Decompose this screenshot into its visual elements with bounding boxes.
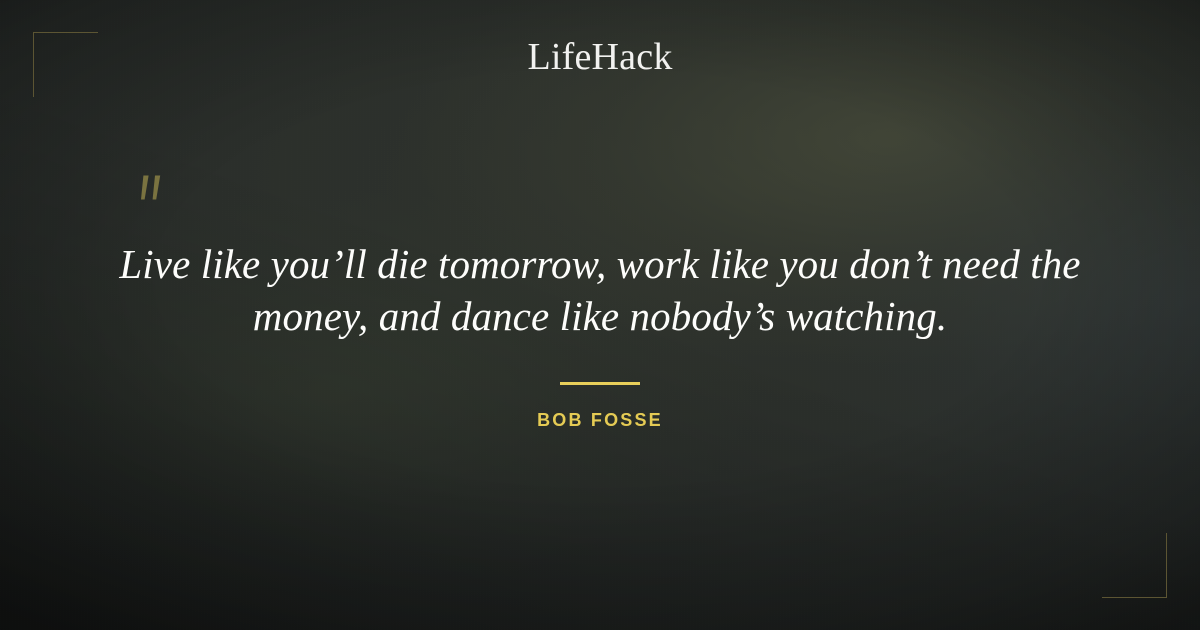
- quote-card: LifeHack Live like you’ll die tomorrow, …: [0, 0, 1200, 630]
- corner-bracket-bottom-right-icon: [1102, 533, 1167, 598]
- quote-text: Live like you’ll die tomorrow, work like…: [90, 238, 1110, 342]
- quotation-mark-icon: [130, 173, 174, 217]
- brand-logo: LifeHack: [0, 38, 1200, 78]
- author-divider: [560, 382, 640, 385]
- quote-block: Live like you’ll die tomorrow, work like…: [90, 238, 1110, 342]
- author-name: BOB FOSSE: [0, 410, 1200, 431]
- attribution: BOB FOSSE: [0, 382, 1200, 431]
